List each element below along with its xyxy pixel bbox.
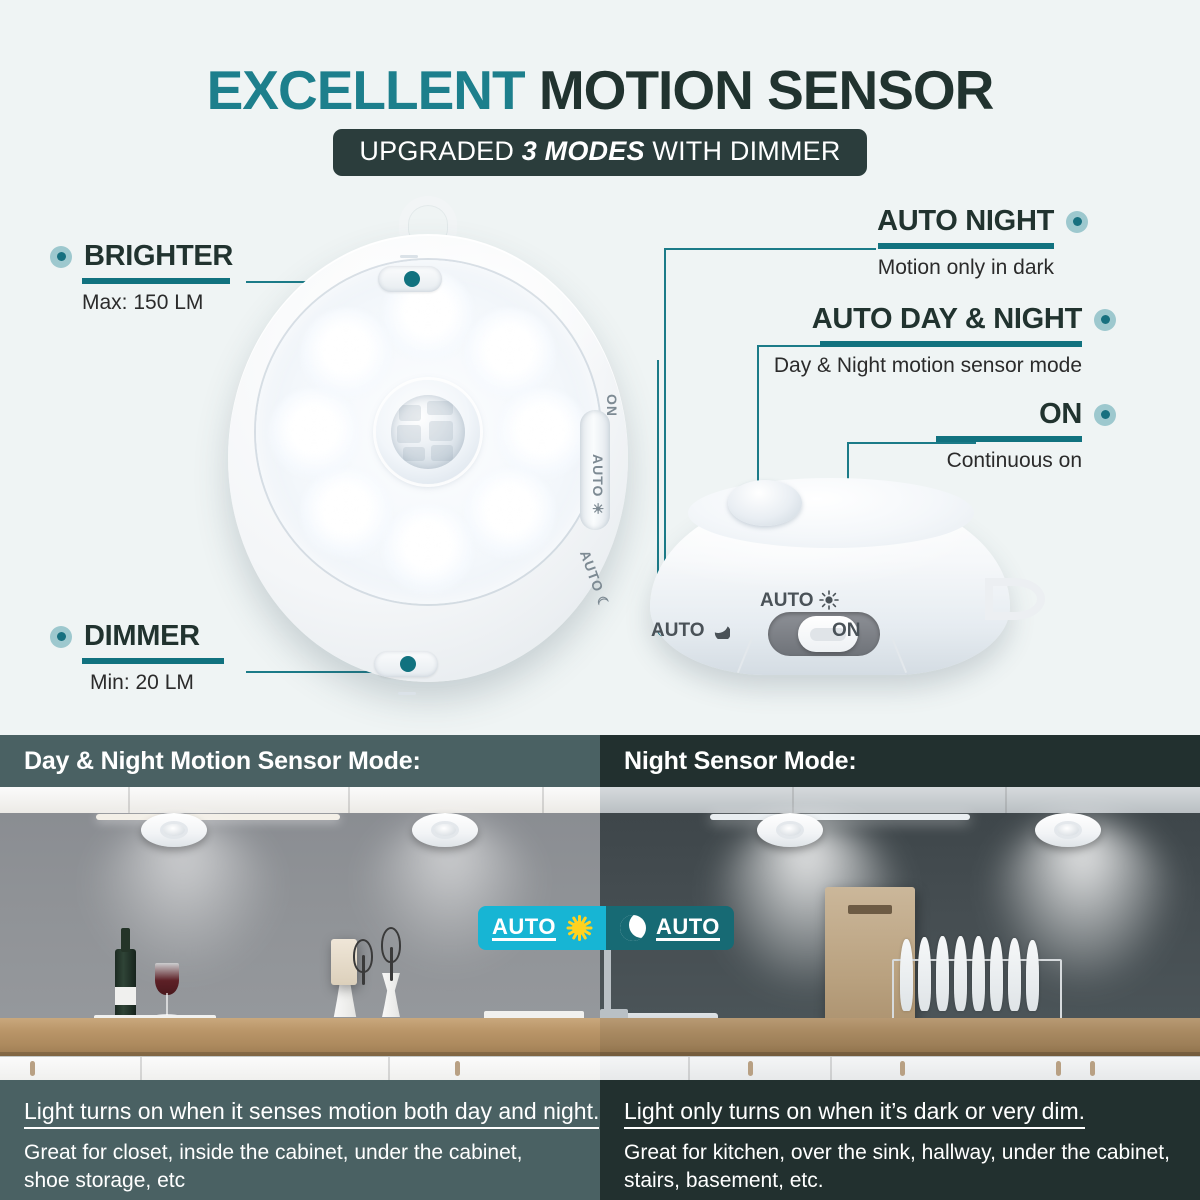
main-lamp-lens	[256, 260, 600, 604]
callout-dimmer-detail: Min: 20 LM	[90, 671, 224, 695]
callout-auto-day-night-title: AUTO DAY & NIGHT	[812, 303, 1082, 336]
wine-bottle-label	[115, 987, 136, 1005]
mounted-sensor-light	[1035, 813, 1101, 847]
mode-switch[interactable]	[768, 612, 880, 656]
whisk-head	[353, 939, 373, 973]
caption-day-night: Light turns on when it senses motion bot…	[0, 1080, 600, 1200]
led-3	[496, 388, 588, 480]
upper-cabinet	[0, 787, 600, 813]
subtitle-banner-wrap: UPGRADED 3 MODES WITH DIMMER	[0, 129, 1200, 176]
bullet-icon	[50, 246, 72, 268]
subtitle-banner: UPGRADED 3 MODES WITH DIMMER	[333, 129, 866, 176]
side-lamp-pir-sensor	[728, 480, 802, 526]
badge-auto-night: AUTO	[606, 906, 734, 950]
badge-auto-day-label: AUTO	[492, 915, 556, 941]
brighter-plus-marker	[400, 255, 418, 258]
cabinet-handle	[1090, 1061, 1095, 1076]
wine-bottle-neck	[121, 928, 130, 952]
top-product-panel: EXCELLENT MOTION SENSOR UPGRADED 3 MODES…	[0, 0, 1200, 735]
page-title: EXCELLENT MOTION SENSOR	[0, 58, 1200, 122]
cabinet-handle	[748, 1061, 753, 1076]
brighter-knob	[404, 271, 420, 287]
cabinet-handle	[455, 1061, 460, 1076]
led-2	[464, 308, 556, 400]
title-highlight: EXCELLENT	[207, 59, 539, 121]
side-lamp-hook	[985, 578, 1045, 620]
mode-panel-night: Night Sensor Mode:	[600, 735, 1200, 1200]
mode-panel-day-night: Day & Night Motion Sensor Mode:	[0, 735, 600, 1200]
cabinet-seam	[388, 1057, 390, 1080]
led-7	[268, 388, 360, 480]
plate	[918, 937, 931, 1011]
bullet-icon	[1066, 211, 1088, 233]
dimmer-knob	[400, 656, 416, 672]
switch-label-auto-sun: AUTO	[760, 590, 839, 612]
infographic-page: EXCELLENT MOTION SENSOR UPGRADED 3 MODES…	[0, 0, 1200, 1200]
bullet-icon	[50, 626, 72, 648]
title-rest: MOTION SENSOR	[539, 59, 994, 121]
bullet-icon	[1094, 404, 1116, 426]
pir-fresnel-lens	[391, 395, 465, 469]
plate	[900, 939, 913, 1011]
mode-panel-left-header: Day & Night Motion Sensor Mode:	[0, 735, 600, 787]
sun-icon	[566, 915, 592, 941]
switch-label-on: ON	[832, 620, 861, 642]
callout-brighter-title: BRIGHTER	[84, 240, 233, 273]
moon-icon	[710, 621, 730, 639]
wine-glass-stem	[166, 993, 168, 1015]
moon-icon	[620, 915, 646, 941]
auto-mode-badges: AUTO AUTO	[478, 906, 734, 950]
mounted-sensor-light	[757, 813, 823, 847]
cabinet-handle	[30, 1061, 35, 1076]
bullet-icon	[1094, 309, 1116, 331]
cabinet-seam	[140, 1057, 142, 1080]
sun-icon	[819, 590, 839, 610]
callout-on-title: ON	[1039, 398, 1082, 431]
subtitle-post: WITH DIMMER	[645, 136, 841, 166]
plate	[1008, 938, 1021, 1011]
mounted-sensor-light	[412, 813, 478, 847]
cabinet-seam	[792, 787, 794, 813]
cabinet-seam	[542, 787, 544, 813]
cabinet-seam	[830, 1057, 832, 1080]
callout-on: ON Continuous on	[936, 398, 1116, 473]
cabinet-seam	[128, 787, 130, 813]
led-5	[382, 504, 474, 596]
product-sensor-light-front-view: ON AUTO ☀ AUTO ☾	[228, 196, 628, 706]
caption-sub-right-line2: stairs, basement, etc.	[624, 1167, 1200, 1195]
caption-sub-left: Great for closet, inside the cabinet, un…	[24, 1139, 600, 1194]
callout-auto-night-detail: Motion only in dark	[877, 256, 1054, 280]
badge-auto-night-label: AUTO	[656, 915, 720, 941]
caption-main-right: Light only turns on when it’s dark or ve…	[624, 1098, 1085, 1129]
main-lamp-body	[228, 234, 628, 682]
led-6	[300, 468, 392, 560]
dimmer-button[interactable]	[374, 651, 438, 677]
countertop	[0, 1018, 600, 1056]
product-sensor-light-side-view	[640, 470, 1060, 700]
rim-label-auto-sun: AUTO ☀	[589, 454, 606, 516]
cabinet-handle	[900, 1061, 905, 1076]
caption-night: Light only turns on when it’s dark or ve…	[600, 1080, 1200, 1200]
caption-sub-right: Great for kitchen, over the sink, hallwa…	[624, 1139, 1200, 1194]
callout-auto-day-night-bar	[820, 341, 1082, 347]
subtitle-pre: UPGRADED	[359, 136, 521, 166]
upper-cabinet	[600, 787, 1200, 813]
plate	[936, 936, 949, 1011]
caption-main-left: Light turns on when it senses motion bot…	[24, 1098, 599, 1129]
plate	[972, 936, 985, 1011]
light-strip	[710, 814, 970, 820]
callout-brighter: BRIGHTER Max: 150 LM	[50, 240, 233, 315]
pir-sensor-dome	[376, 380, 480, 484]
dimmer-minus-marker	[398, 692, 416, 695]
whisk-head	[381, 927, 401, 963]
badge-auto-day: AUTO	[478, 906, 606, 950]
mounted-sensor-light	[141, 813, 207, 847]
callout-brighter-bar	[82, 278, 230, 284]
light-strip	[96, 814, 340, 820]
cabinet-handle	[1056, 1061, 1061, 1076]
callout-brighter-detail: Max: 150 LM	[82, 291, 233, 315]
callout-dimmer-bar	[82, 658, 224, 664]
callout-dimmer: DIMMER Min: 20 LM	[50, 620, 224, 695]
connector-auto-night-h	[664, 248, 876, 250]
mode-panel-right-header: Night Sensor Mode:	[600, 735, 1200, 787]
led-8	[300, 308, 392, 400]
cutting-board-slot	[848, 905, 892, 914]
lower-cabinet	[0, 1057, 600, 1080]
brighter-button[interactable]	[378, 266, 442, 292]
caption-sub-right-line1: Great for kitchen, over the sink, hallwa…	[624, 1139, 1200, 1167]
callout-auto-day-night: AUTO DAY & NIGHT Day & Night motion sens…	[774, 303, 1116, 378]
callout-auto-day-night-detail: Day & Night motion sensor mode	[774, 354, 1082, 378]
mode-comparison-section: Day & Night Motion Sensor Mode:	[0, 735, 1200, 1200]
caption-sub-left-line2: shoe storage, etc	[24, 1167, 600, 1195]
callout-auto-night: AUTO NIGHT Motion only in dark	[877, 205, 1088, 280]
wine-glass-bowl	[155, 963, 179, 995]
cabinet-seam	[348, 787, 350, 813]
plate	[990, 937, 1003, 1011]
callout-dimmer-title: DIMMER	[84, 620, 200, 653]
wine-bottle	[115, 949, 136, 1017]
cabinet-seam	[688, 1057, 690, 1080]
countertop	[600, 1018, 1200, 1056]
rim-label-on: ON	[604, 394, 620, 417]
callout-on-bar	[936, 436, 1082, 442]
plate	[1026, 940, 1039, 1011]
callout-auto-night-title: AUTO NIGHT	[877, 205, 1054, 238]
plate	[954, 936, 967, 1011]
subtitle-emphasis: 3 MODES	[522, 136, 645, 166]
cabinet-seam	[1005, 787, 1007, 813]
caption-sub-left-line1: Great for closet, inside the cabinet, un…	[24, 1139, 600, 1167]
led-4	[464, 468, 556, 560]
switch-label-auto-moon: AUTO	[651, 620, 730, 642]
callout-auto-night-bar	[878, 243, 1054, 249]
